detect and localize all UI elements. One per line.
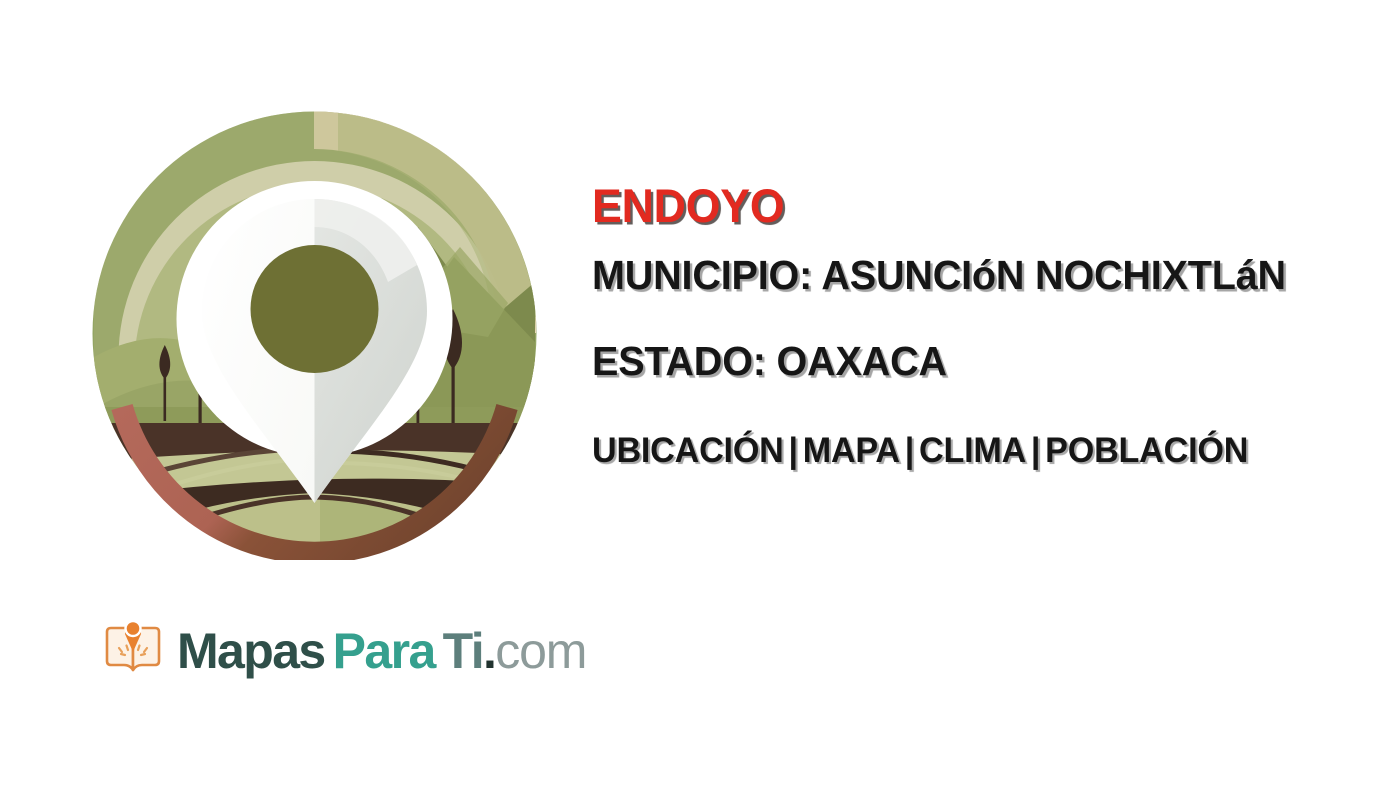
map-location-emblem-svg [88, 107, 541, 560]
nav-separator: | [1026, 431, 1045, 470]
brand-part-ti: Ti [435, 626, 483, 676]
nav-item-mapa[interactable]: MAPA [803, 431, 900, 470]
open-book-pin-icon [100, 618, 166, 684]
brand-part-para: Para [325, 626, 435, 676]
nav-item-ubicacion[interactable]: UBICACIÓN [592, 431, 784, 470]
nav-separator: | [784, 431, 803, 470]
place-info-block: ENDOYO MUNICIPIO: ASUNCIóN NOCHIXTLáN ES… [592, 182, 1382, 493]
brand-wordmark: Mapas Para Ti . com [177, 626, 586, 676]
map-location-emblem [88, 107, 541, 560]
estado-label: ESTADO: OAXACA [592, 327, 1354, 413]
page-title: ENDOYO [592, 182, 1343, 238]
brand-part-mapas: Mapas [177, 626, 325, 676]
nav-item-poblacion[interactable]: POBLACIÓN [1045, 431, 1248, 470]
brand-logo[interactable]: Mapas Para Ti . com [100, 618, 586, 684]
nav-item-clima[interactable]: CLIMA [919, 431, 1026, 470]
nav-separator: | [900, 431, 919, 470]
page-root: ENDOYO MUNICIPIO: ASUNCIóN NOCHIXTLáN ES… [0, 0, 1400, 786]
map-pin-core [251, 245, 379, 373]
open-book-pin-icon-svg [100, 618, 166, 684]
brand-part-com: com [495, 626, 586, 676]
municipio-label: MUNICIPIO: ASUNCIóN NOCHIXTLáN [592, 238, 1354, 327]
section-nav: UBICACIÓN|MAPA|CLIMA|POBLACIÓN [592, 413, 1362, 493]
book-pin-head [126, 621, 141, 636]
brand-part-dot: . [483, 626, 495, 676]
